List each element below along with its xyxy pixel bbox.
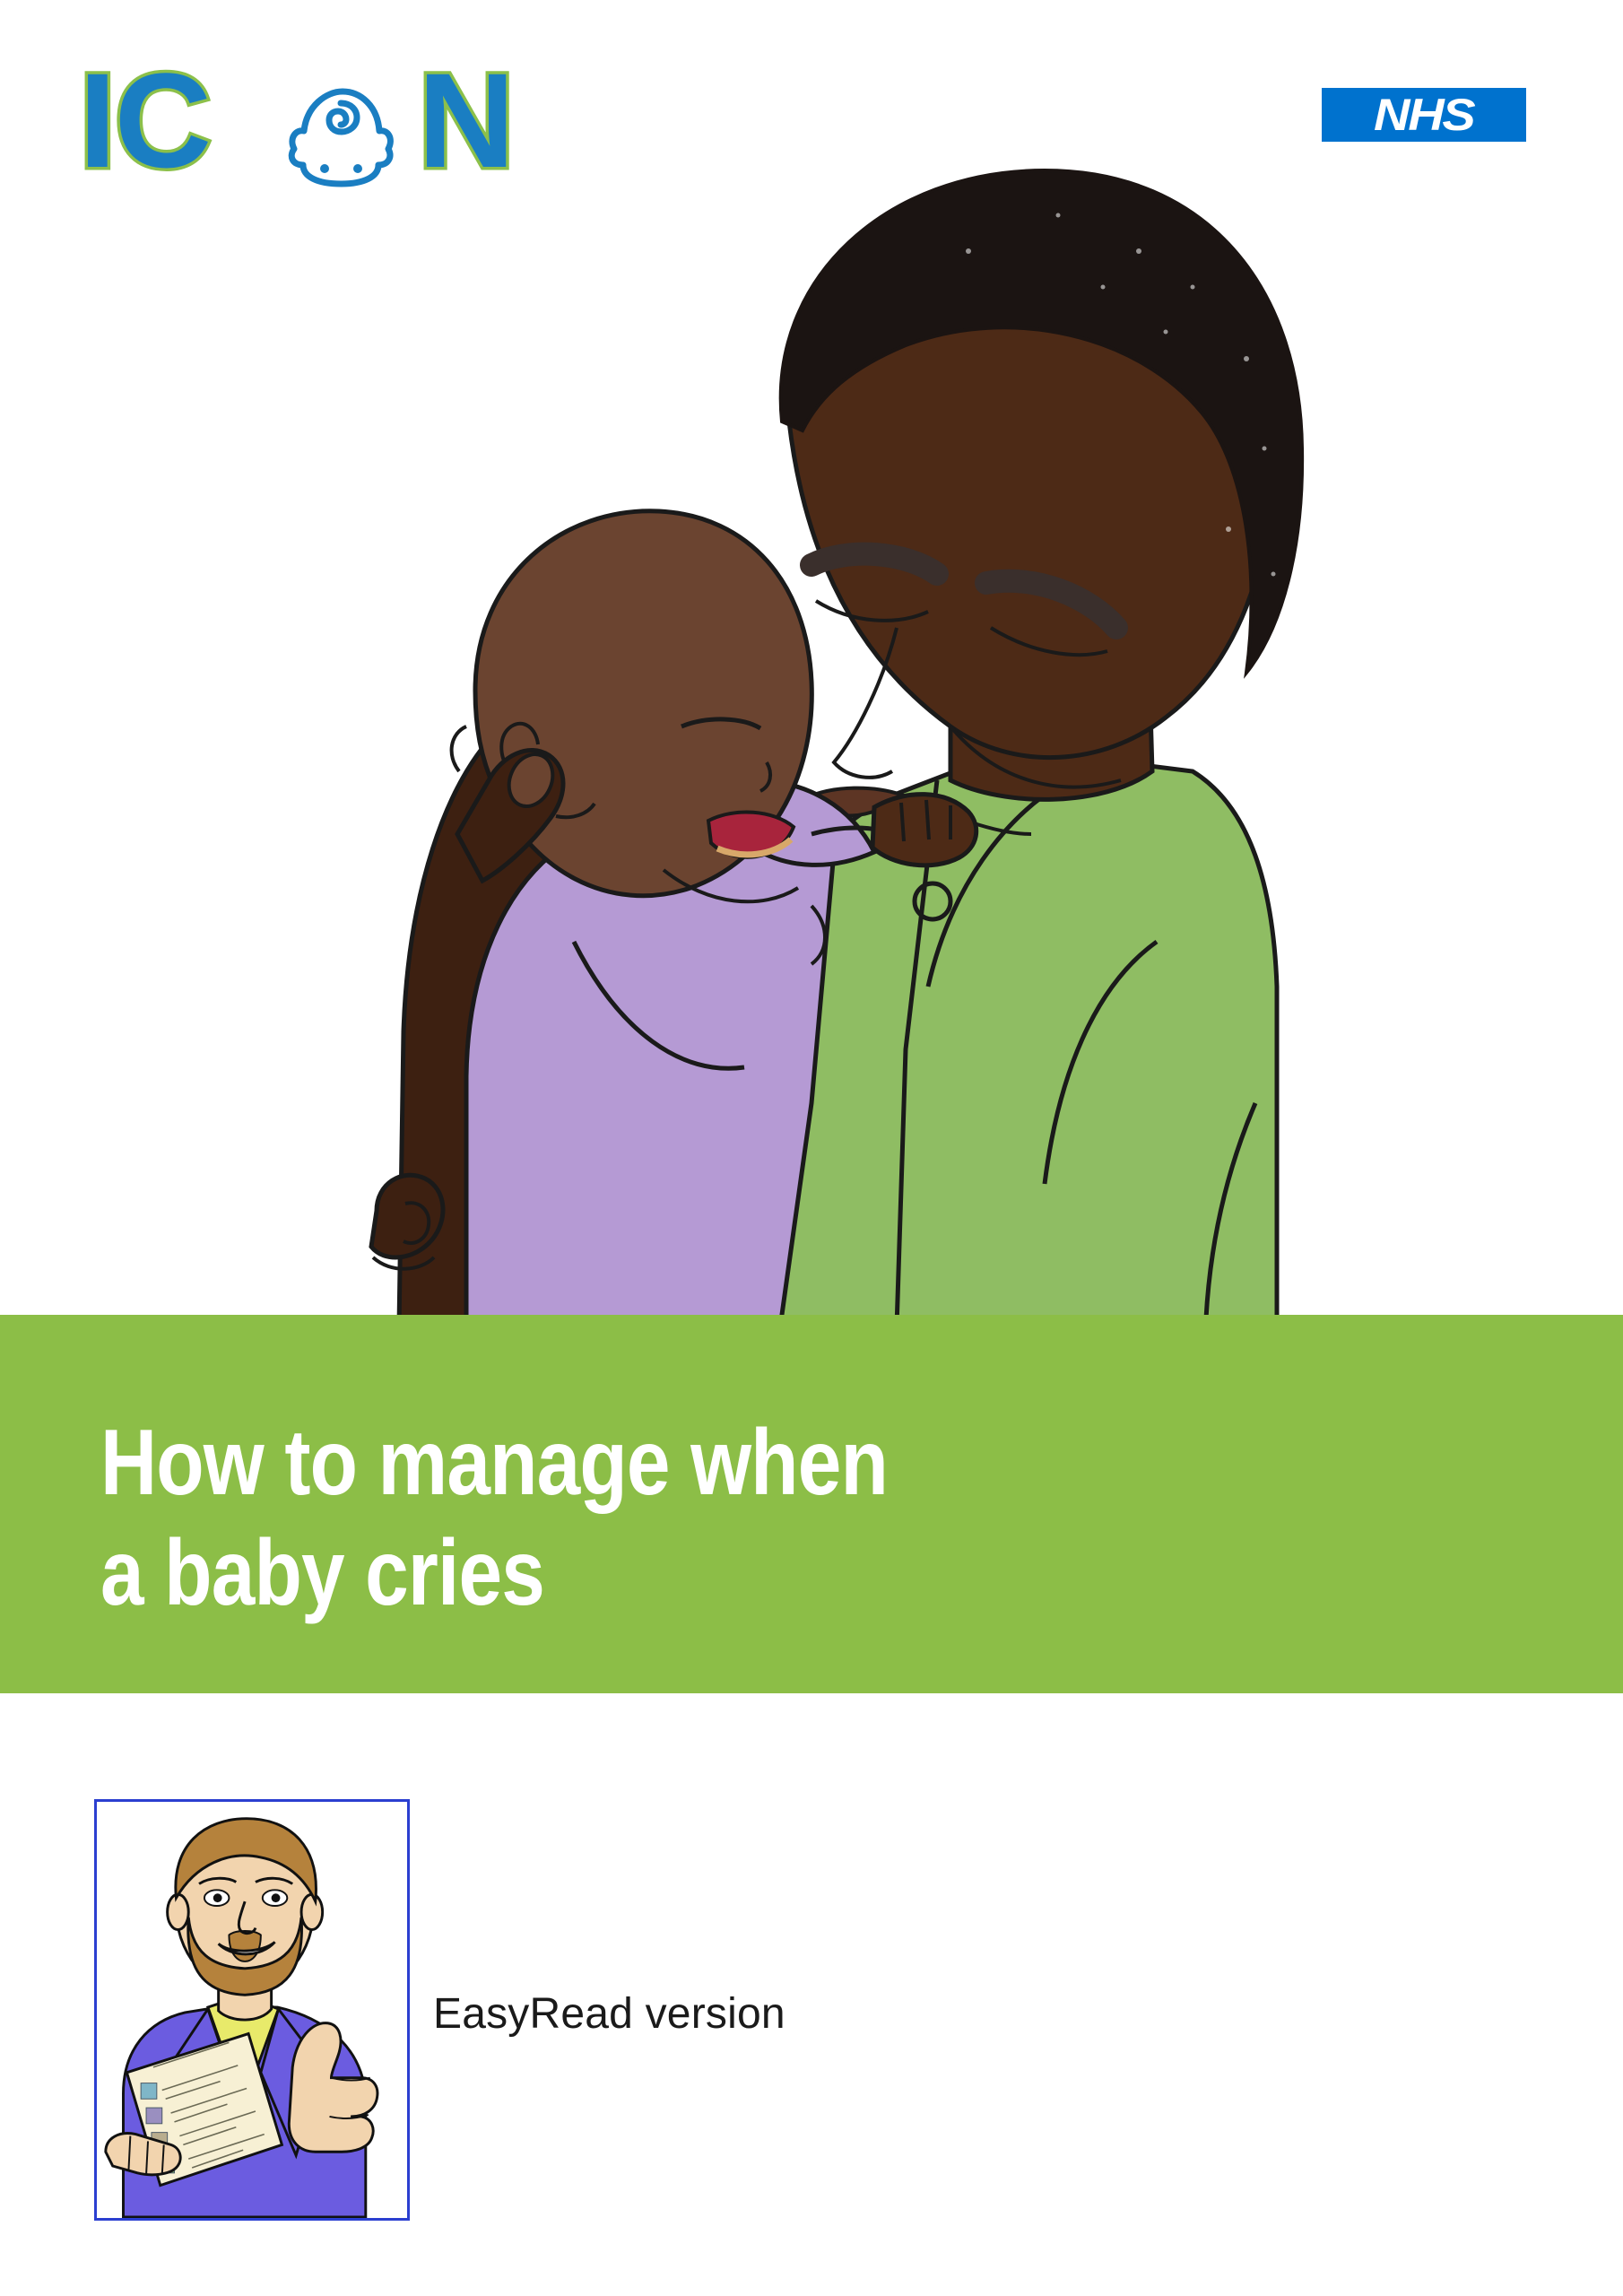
easyread-block: EasyRead version bbox=[94, 1799, 1170, 2230]
nhs-logo: NHS bbox=[1322, 88, 1526, 142]
father-holding-crying-baby-illustration bbox=[0, 152, 1623, 1318]
easyread-man-with-document-image bbox=[94, 1799, 410, 2221]
page-title: How to manage when a baby cries bbox=[100, 1408, 1042, 1629]
easyread-version-label: EasyRead version bbox=[433, 1989, 785, 2039]
page-canvas: IC N NHS bbox=[0, 0, 1623, 2296]
nhs-logo-text: NHS bbox=[1374, 89, 1474, 141]
